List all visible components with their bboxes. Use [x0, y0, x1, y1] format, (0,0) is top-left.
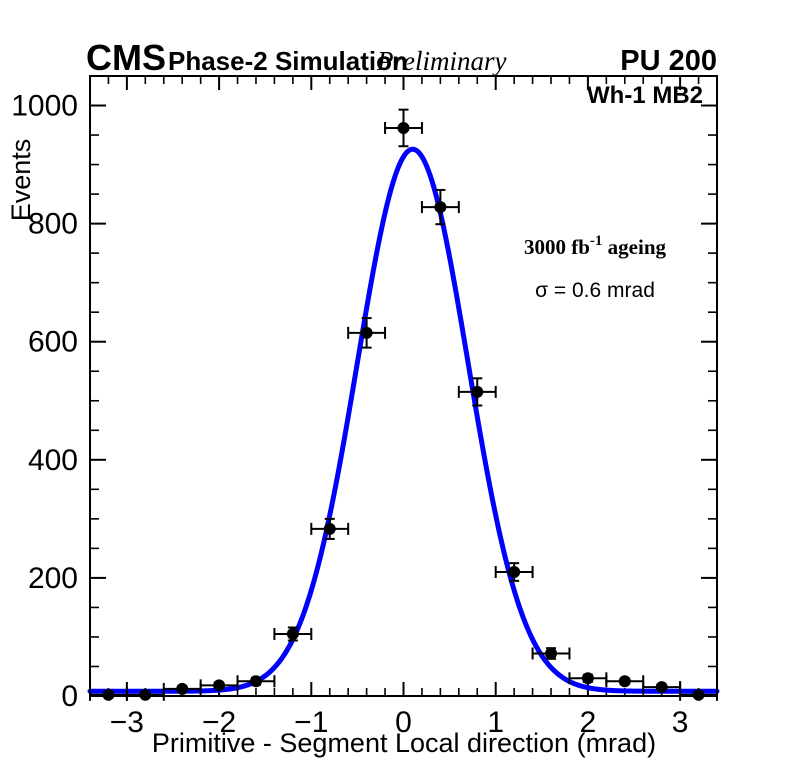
y-tick-label: 400 [28, 444, 78, 477]
ageing-suffix: ageing [602, 235, 666, 259]
cms-plot-canvas: CMS Phase-2 Simulation Preliminary PU 20… [0, 0, 796, 772]
data-marker [619, 675, 631, 687]
data-marker [508, 566, 520, 578]
chamber-label: Wh-1 MB2 [587, 82, 703, 109]
data-marker [434, 201, 446, 213]
cms-subtitle-label: Phase-2 Simulation [168, 46, 408, 76]
data-marker [582, 672, 594, 684]
x-tick-label: −3 [110, 706, 144, 739]
data-marker [139, 689, 151, 701]
resolution-annotation: σ = 0.6 mrad [535, 279, 655, 302]
data-marker [176, 683, 188, 695]
pileup-label: PU 200 [620, 45, 717, 77]
ageing-prefix: 3000 fb [524, 235, 590, 259]
y-tick-label: 1000 [11, 90, 78, 123]
data-marker [471, 386, 483, 398]
y-tick-label: 0 [61, 680, 78, 713]
cms-experiment-label: CMS [86, 37, 166, 78]
y-axis-title: Events [6, 139, 36, 222]
x-tick-label: 3 [672, 706, 689, 739]
data-marker [545, 647, 557, 659]
ageing-superscript: -1 [590, 233, 603, 249]
data-marker [213, 679, 225, 691]
data-marker [398, 122, 410, 134]
x-axis-title: Primitive - Segment Local direction (mra… [152, 728, 656, 758]
y-tick-label: 200 [28, 562, 78, 595]
data-marker [693, 689, 705, 701]
data-marker [287, 628, 299, 640]
cms-preliminary-label: Preliminary [376, 46, 506, 76]
data-marker [361, 327, 373, 339]
plot-background [0, 0, 796, 772]
data-marker [102, 689, 114, 701]
y-tick-label: 600 [28, 326, 78, 359]
data-marker [250, 675, 262, 687]
data-marker [324, 523, 336, 535]
data-marker [656, 681, 668, 693]
